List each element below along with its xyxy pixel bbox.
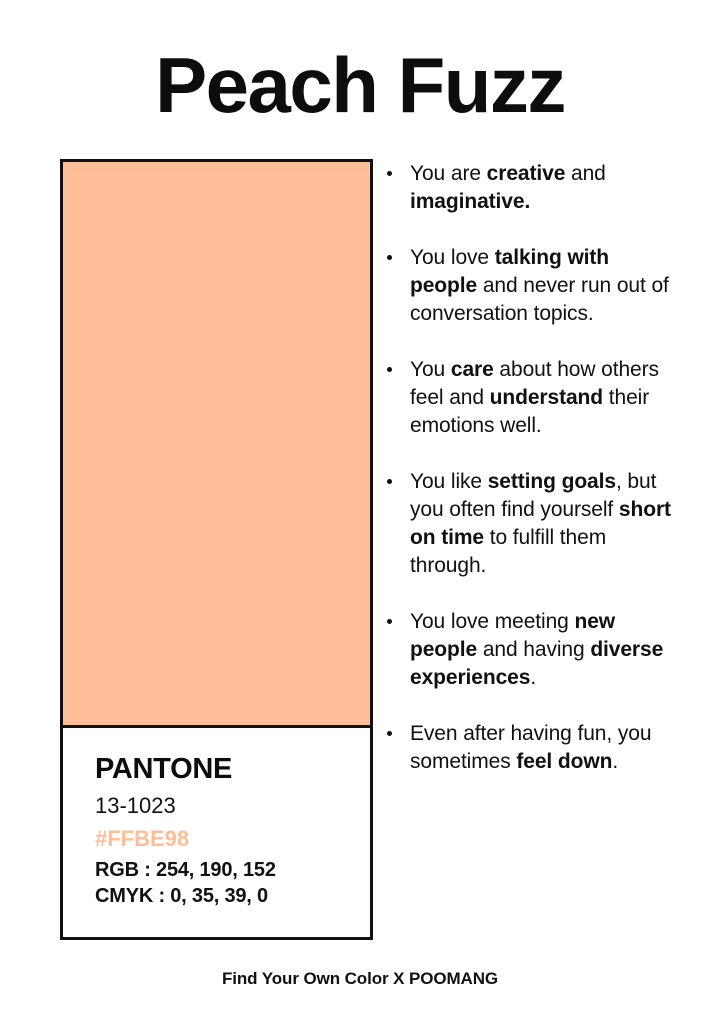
- trait-item-talking-with-people: You love talking with people and never r…: [384, 244, 676, 328]
- trait-text: You love meeting new people and having d…: [410, 610, 663, 689]
- bullet-icon: [387, 255, 392, 260]
- pantone-brand-label: PANTONE: [95, 752, 370, 786]
- trait-text: You like setting goals, but you often fi…: [410, 470, 671, 577]
- trait-text: You care about how others feel and under…: [410, 358, 659, 437]
- color-swatch-card: PANTONE 13-1023 #FFBE98 RGB : 254, 190, …: [60, 159, 373, 940]
- trait-text: Even after having fun, you sometimes fee…: [410, 722, 651, 773]
- footer-credit: Find Your Own Color X POOMANG: [0, 968, 720, 990]
- trait-text: You love talking with people and never r…: [410, 246, 669, 325]
- trait-item-new-people: You love meeting new people and having d…: [384, 608, 676, 692]
- cmyk-values: CMYK : 0, 35, 39, 0: [95, 883, 370, 909]
- bullet-icon: [387, 367, 392, 372]
- trait-item-creative: You are creative and imaginative.: [384, 160, 676, 216]
- bullet-icon: [387, 619, 392, 624]
- page-title: Peach Fuzz: [0, 42, 720, 128]
- hex-code: #FFBE98: [95, 824, 370, 854]
- pantone-code: 13-1023: [95, 791, 370, 821]
- trait-text: You are creative and imaginative.: [410, 162, 606, 213]
- trait-item-setting-goals: You like setting goals, but you often fi…: [384, 468, 676, 580]
- bullet-icon: [387, 479, 392, 484]
- rgb-values: RGB : 254, 190, 152: [95, 857, 370, 883]
- bullet-icon: [387, 731, 392, 736]
- trait-list: You are creative and imaginative.You lov…: [384, 160, 676, 776]
- bullet-icon: [387, 171, 392, 176]
- color-swatch-fill: [63, 162, 370, 728]
- poster-canvas: Peach Fuzz PANTONE 13-1023 #FFBE98 RGB :…: [0, 0, 720, 1020]
- trait-item-care-understand: You care about how others feel and under…: [384, 356, 676, 440]
- color-swatch-info: PANTONE 13-1023 #FFBE98 RGB : 254, 190, …: [63, 728, 370, 937]
- trait-item-feel-down: Even after having fun, you sometimes fee…: [384, 720, 676, 776]
